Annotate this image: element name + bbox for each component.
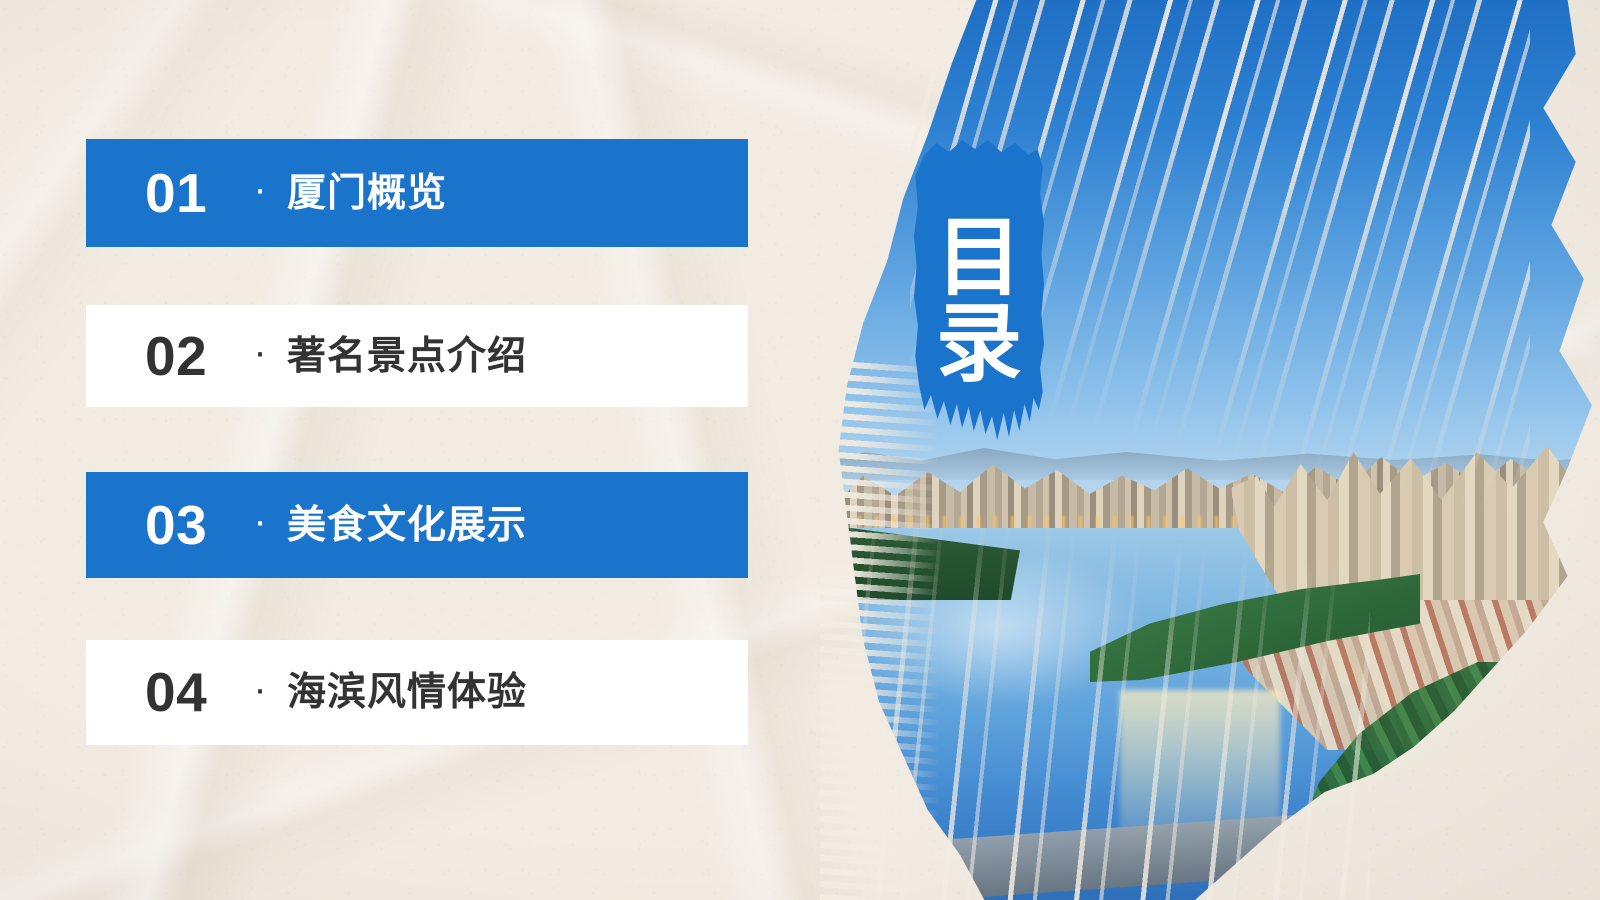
agenda-item-number: 02 xyxy=(145,329,237,384)
agenda-item-title: 美食文化展示 xyxy=(287,506,527,545)
agenda-item-separator-dot: · xyxy=(237,169,283,209)
agenda-item-03[interactable]: 03 · 美食文化展示 xyxy=(86,472,748,578)
agenda-item-separator-dot: · xyxy=(237,501,283,541)
agenda-item-number: 04 xyxy=(145,665,237,720)
slide-root: 目 录 01 · 厦门概览 02 · 著名景点介绍 03 · 美食文化展示 04… xyxy=(0,0,1600,900)
agenda-item-04[interactable]: 04 · 海滨风情体验 xyxy=(86,640,748,745)
agenda-item-01[interactable]: 01 · 厦门概览 xyxy=(86,139,748,247)
badge-char-bottom: 录 xyxy=(936,302,1022,386)
agenda-item-title: 海滨风情体验 xyxy=(287,673,527,712)
agenda-item-separator-dot: · xyxy=(237,332,283,372)
agenda-item-02[interactable]: 02 · 著名景点介绍 xyxy=(86,305,748,407)
agenda-item-number: 01 xyxy=(145,166,237,221)
badge-text: 目 录 xyxy=(914,140,1044,440)
artwork-panel: 目 录 xyxy=(790,0,1600,900)
badge-char-top: 目 xyxy=(936,216,1022,300)
agenda-item-number: 03 xyxy=(145,498,237,553)
section-title-badge: 目 录 xyxy=(914,140,1044,440)
agenda-item-title: 厦门概览 xyxy=(287,174,447,213)
agenda-item-separator-dot: · xyxy=(237,669,283,709)
brush-edge-left xyxy=(820,360,940,900)
agenda-item-title: 著名景点介绍 xyxy=(287,337,527,376)
